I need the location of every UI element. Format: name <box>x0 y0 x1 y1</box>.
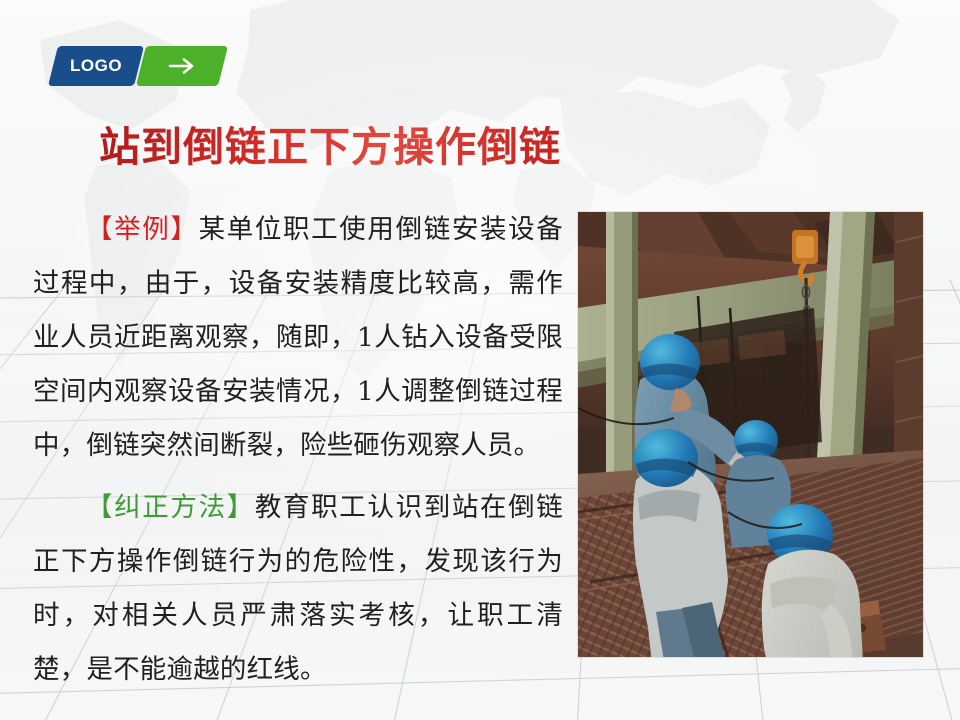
site-photo <box>578 212 923 657</box>
slide-canvas: LOGO 站到倒链正下方操作倒链 【举例】某单位职工使用倒链安装设备过程中，由于… <box>0 0 960 720</box>
correction-tag: 【纠正方法】 <box>86 492 255 523</box>
logo-text: LOGO <box>70 56 122 76</box>
arrow-right-icon <box>165 56 199 76</box>
page-title: 站到倒链正下方操作倒链 <box>0 126 660 169</box>
paragraph-correction: 【纠正方法】教育职工认识到站在倒链正下方操作倒链行为的危险性，发现该行为时，对相… <box>33 481 563 697</box>
example-text: 某单位职工使用倒链安装设备过程中，由于，设备安装精度比较高，需作业人员近距离观察… <box>33 214 563 461</box>
example-tag: 【举例】 <box>86 214 199 245</box>
paragraph-example: 【举例】某单位职工使用倒链安装设备过程中，由于，设备安装精度比较高，需作业人员近… <box>33 203 563 473</box>
logo-blue-panel: LOGO <box>48 46 144 86</box>
content-body: 【举例】某单位职工使用倒链安装设备过程中，由于，设备安装精度比较高，需作业人员近… <box>33 203 563 697</box>
site-photo-illustration <box>578 212 923 657</box>
logo[interactable]: LOGO <box>45 46 220 88</box>
logo-green-panel <box>136 46 228 86</box>
